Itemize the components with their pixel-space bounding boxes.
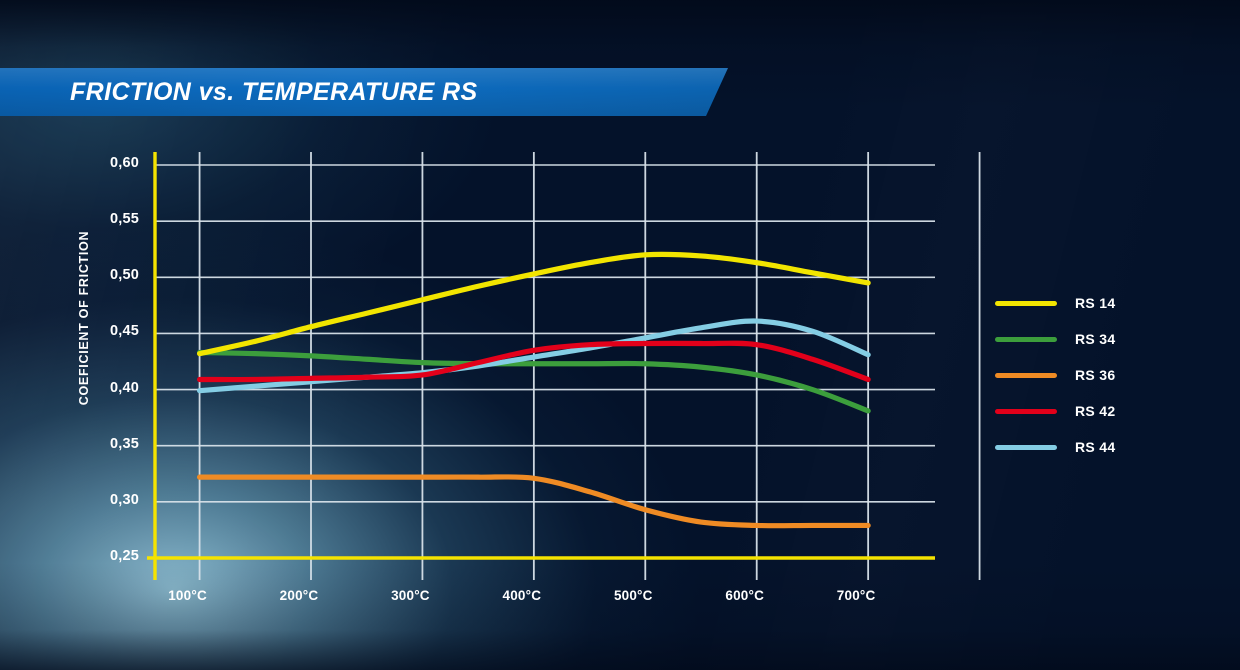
legend-item[interactable]: RS 14 <box>995 285 1115 321</box>
y-axis-tick-label: 0,35 <box>83 436 139 452</box>
x-axis-tick-label: 600°C <box>705 588 785 603</box>
x-axis-tick-label: 100°C <box>148 588 228 603</box>
y-axis-tick-label: 0,30 <box>83 492 139 508</box>
legend-color-swatch <box>995 445 1057 450</box>
y-axis-tick-label: 0,55 <box>83 211 139 227</box>
legend-item[interactable]: RS 44 <box>995 429 1115 465</box>
x-axis-tick-label: 300°C <box>370 588 450 603</box>
y-axis-tick-label: 0,60 <box>83 155 139 171</box>
legend-item[interactable]: RS 34 <box>995 321 1115 357</box>
legend-item-label: RS 34 <box>1075 331 1115 347</box>
x-axis-tick-label: 700°C <box>816 588 896 603</box>
y-axis-tick-label: 0,25 <box>83 548 139 564</box>
x-axis-tick-label: 200°C <box>259 588 339 603</box>
legend: RS 14RS 34RS 36RS 42RS 44 <box>995 285 1115 465</box>
legend-item[interactable]: RS 36 <box>995 357 1115 393</box>
chart-screenshot: FRICTION vs. TEMPERATURE RS COEFICIENT O… <box>0 0 1240 670</box>
legend-color-swatch <box>995 301 1057 306</box>
legend-color-swatch <box>995 409 1057 414</box>
legend-item-label: RS 44 <box>1075 439 1115 455</box>
legend-item-label: RS 14 <box>1075 295 1115 311</box>
legend-item[interactable]: RS 42 <box>995 393 1115 429</box>
legend-color-swatch <box>995 337 1057 342</box>
y-axis-tick-label: 0,40 <box>83 380 139 396</box>
y-axis-tick-label: 0,45 <box>83 323 139 339</box>
x-axis-tick-label: 500°C <box>593 588 673 603</box>
x-axis-tick-label: 400°C <box>482 588 562 603</box>
legend-item-label: RS 36 <box>1075 367 1115 383</box>
legend-item-label: RS 42 <box>1075 403 1115 419</box>
legend-color-swatch <box>995 373 1057 378</box>
y-axis-tick-label: 0,50 <box>83 267 139 283</box>
